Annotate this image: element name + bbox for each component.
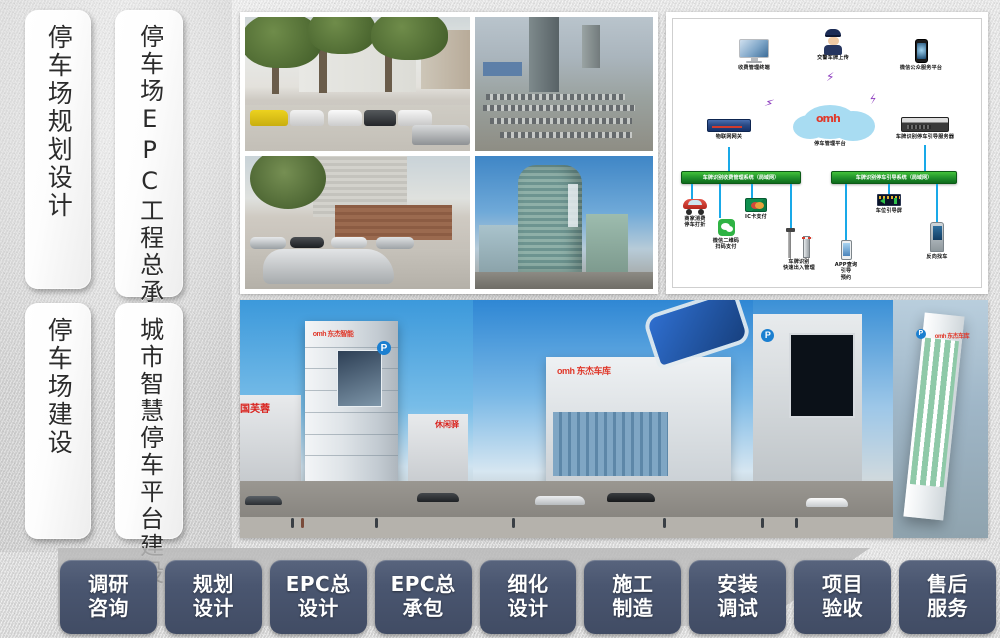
step-install[interactable]: 安装 调试 <box>689 560 786 634</box>
server-icon <box>901 117 949 132</box>
photo-car-row <box>490 118 632 124</box>
process-step-list: 调研 咨询 规划 设计 EPC总 设计 EPC总 承包 细化 设计 施工 制造 … <box>60 560 996 634</box>
photo-glass-facade <box>518 165 582 272</box>
render-green-facade <box>910 337 959 487</box>
photo-car <box>250 110 288 126</box>
render-car <box>806 498 848 507</box>
photo-street-parking-lot <box>245 17 470 151</box>
sidebar-card-parking-epc[interactable]: 停车场EPC工程总承包 <box>115 10 183 297</box>
node-ic-card: IC卡支付 <box>739 198 773 220</box>
render-sign-text: 休闲驿 <box>435 419 459 430</box>
sidebar-card-smart-platform[interactable]: 城市智慧停车平台建设 <box>115 303 183 539</box>
photo-blue-roof <box>483 62 522 75</box>
node-label: 车牌识别停车引导服务器 <box>877 134 973 140</box>
step-epc-design[interactable]: EPC总 设计 <box>270 560 367 634</box>
render-pedestrian <box>301 518 304 528</box>
connector-line <box>790 184 792 228</box>
bar-toll-system: 车牌识别收费管理系统（局域网） <box>681 171 801 184</box>
photo-side-building <box>479 225 518 273</box>
barrier-gate-icon <box>786 228 812 258</box>
red-car-icon <box>683 199 707 215</box>
render-led-billboard <box>789 333 855 418</box>
connector-line <box>751 184 753 198</box>
render-strip-panel: 国芙蓉 休闲驿 omh 东杰智能 P <box>240 300 988 538</box>
node-label: 物联网网关 <box>693 134 765 140</box>
photo-aerial-parking <box>475 17 653 151</box>
lightning-icon: ⚡ <box>763 96 775 110</box>
photo-car <box>290 110 324 126</box>
bar-guidance-system: 车牌识别停车引导系统（局域网） <box>831 171 957 184</box>
photo-tree <box>371 17 448 60</box>
ic-card-icon <box>745 198 767 212</box>
render-tower-garage-street: 国芙蓉 休闲驿 omh 东杰智能 P <box>240 300 473 538</box>
imac-icon <box>739 39 769 63</box>
node-plate-gate: 车牌识别 快速出入管理 <box>775 228 823 272</box>
police-icon <box>824 29 842 53</box>
node-label: IC卡支付 <box>739 214 773 220</box>
router-icon <box>707 119 751 132</box>
photo-tower <box>582 25 600 68</box>
render-led-facade: P <box>753 300 893 538</box>
node-label: 收费管理终端 <box>723 65 785 71</box>
wechat-icon <box>718 219 735 236</box>
step-acceptance[interactable]: 项目 验收 <box>794 560 891 634</box>
render-car <box>417 493 459 502</box>
node-guidance-server: 车牌识别停车引导服务器 <box>877 117 973 140</box>
parking-p-icon: P <box>761 329 774 342</box>
render-garage-building <box>546 357 731 495</box>
kiosk-icon <box>930 222 944 252</box>
node-guidance-screen: 车位引导屏 <box>869 194 909 214</box>
node-wechat-qr: 微信二维码 扫码支付 <box>703 219 749 251</box>
cloud-brand-logo: omh <box>816 112 840 125</box>
photo-car <box>376 237 414 249</box>
photo-grid <box>245 17 653 289</box>
photo-car-row <box>486 94 624 100</box>
render-pedestrian <box>375 518 378 528</box>
led-screen-icon <box>877 194 901 206</box>
render-pedestrian <box>291 518 294 528</box>
system-architecture-panel: omh 停车管理平台 ⚡ ⚡ ⚡ 收费管理终端 交警车牌上传 <box>666 12 988 294</box>
node-iot-gateway: 物联网网关 <box>693 119 765 140</box>
render-grid: 国芙蓉 休闲驿 omh 东杰智能 P <box>240 300 988 538</box>
photo-glass-tower <box>475 156 653 290</box>
connector-line <box>888 184 890 194</box>
sidebar-card-label: 停车场规划设计 <box>44 10 73 220</box>
photo-car <box>412 125 471 145</box>
node-toll-terminal: 收费管理终端 <box>723 39 785 71</box>
system-architecture-diagram: omh 停车管理平台 ⚡ ⚡ ⚡ 收费管理终端 交警车牌上传 <box>672 18 982 288</box>
render-car <box>245 496 282 505</box>
node-traffic-police: 交警车牌上传 <box>805 29 861 61</box>
render-pedestrian <box>512 518 515 528</box>
connector-line <box>728 147 730 171</box>
node-label: 微信公众服务平台 <box>885 65 957 71</box>
render-car <box>535 496 585 505</box>
render-parking-tower <box>903 313 964 521</box>
node-label: 车牌识别 快速出入管理 <box>775 259 823 272</box>
render-sidewalk <box>240 517 473 538</box>
parking-p-icon: P <box>377 341 391 355</box>
connector-line <box>845 184 847 240</box>
photo-car <box>290 237 324 248</box>
photo-tower <box>529 17 559 92</box>
node-find-car: 反向找车 <box>919 222 955 260</box>
render-billboard <box>337 350 382 406</box>
photo-tree <box>308 17 376 54</box>
sidebar-card-parking-construction[interactable]: 停车场建设 <box>25 303 91 539</box>
render-sidewalk <box>753 517 893 538</box>
photo-car <box>331 237 367 248</box>
photo-car <box>250 237 286 249</box>
node-label: 交警车牌上传 <box>805 55 861 61</box>
photo-collage-panel <box>240 12 658 294</box>
photo-car-row <box>500 132 631 138</box>
render-brand-logo: omh 东杰智能 <box>313 329 354 339</box>
node-label: 停车管理平台 <box>791 141 869 147</box>
parking-p-icon: P <box>916 329 926 339</box>
step-planning[interactable]: 规划 设计 <box>165 560 262 634</box>
render-brand-logo: omh 东杰车库 <box>935 331 969 340</box>
connector-line <box>691 184 693 200</box>
step-detail-design[interactable]: 细化 设计 <box>480 560 577 634</box>
render-brand-logo: omh 东杰车库 <box>557 364 611 377</box>
step-aftersales[interactable]: 售后 服务 <box>899 560 996 634</box>
render-aerial-tower: P omh 东杰车库 <box>893 300 988 538</box>
node-label: 车位引导屏 <box>869 208 909 214</box>
photo-car <box>398 110 432 126</box>
sidebar-card-label: 停车场建设 <box>44 303 73 457</box>
render-glass-wall <box>553 412 668 475</box>
app-phone-icon <box>841 240 852 260</box>
photo-brick-building <box>335 205 452 240</box>
lightning-icon: ⚡ <box>826 71 834 83</box>
photo-tree-trunk <box>319 46 327 93</box>
photo-ground <box>475 272 653 289</box>
step-survey[interactable]: 调研 咨询 <box>60 560 157 634</box>
photo-car-row <box>483 105 636 111</box>
node-label: 反向找车 <box>919 254 955 260</box>
sidebar-card-label: 停车场EPC工程总承包 <box>135 10 162 333</box>
connector-line <box>719 184 721 218</box>
connector-line <box>924 145 926 171</box>
step-manufacture[interactable]: 施工 制造 <box>584 560 681 634</box>
node-wechat-platform: 微信公众服务平台 <box>885 39 957 71</box>
connector-line <box>936 184 938 222</box>
render-sign-text: 国芙蓉 <box>240 400 270 415</box>
photo-side-building <box>586 214 629 273</box>
photo-car <box>328 110 362 126</box>
smartphone-icon <box>915 39 928 63</box>
photo-car <box>364 110 396 126</box>
node-label: 微信二维码 扫码支付 <box>703 238 749 251</box>
lightning-icon: ⚡ <box>867 92 879 106</box>
render-parking-tower: omh 东杰智能 P <box>305 321 398 502</box>
render-pedestrian <box>795 518 798 528</box>
photo-car <box>263 249 394 284</box>
render-car <box>607 493 655 502</box>
render-modern-garage: omh 东杰车库 <box>473 300 753 538</box>
node-app-query: APP查询 引导 预约 <box>825 240 867 281</box>
node-cloud-platform: 停车管理平台 <box>791 141 869 147</box>
step-epc-contract[interactable]: EPC总 承包 <box>375 560 472 634</box>
node-label: APP查询 引导 预约 <box>825 262 867 281</box>
sidebar-card-parking-planning-design[interactable]: 停车场规划设计 <box>25 10 91 289</box>
render-lifted-car <box>647 300 747 365</box>
photo-brick-building-lot <box>245 156 470 290</box>
slide-canvas: 停车场规划设计 停车场EPC工程总承包 停车场建设 城市智慧停车平台建设 <box>0 0 1000 638</box>
sidebar-card-label: 城市智慧停车平台建设 <box>135 303 162 587</box>
